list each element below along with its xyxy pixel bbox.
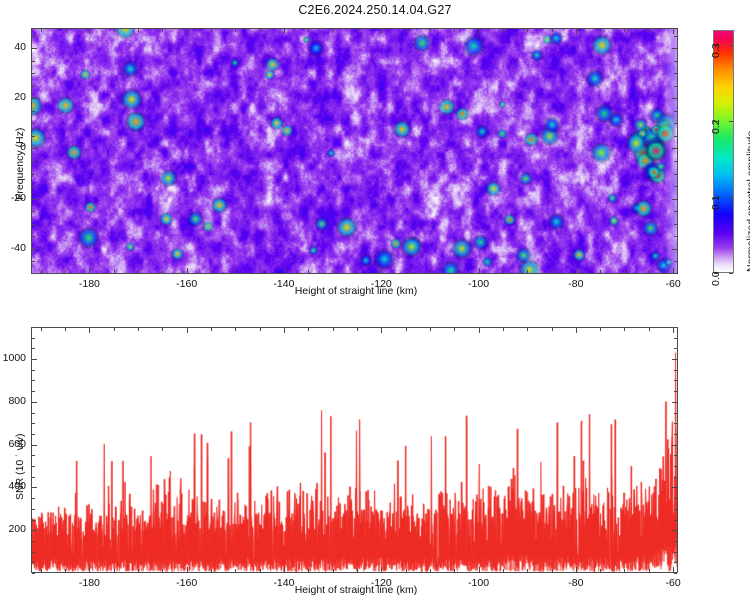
y-tick-label: 1000 <box>0 352 26 364</box>
colorbar-gradient <box>713 30 734 273</box>
colorbar-tick-label: 0.2 <box>710 120 722 135</box>
snr-trace-image <box>32 328 677 572</box>
colorbar-tick-label: 0.3 <box>710 44 722 59</box>
spectrogram-y-axis-label: Frequency (Hz) <box>14 128 26 200</box>
x-tick-label: -60 <box>643 577 703 589</box>
colorbar-label: Normalized spectral amplitude <box>745 131 750 272</box>
snr-y-axis-label: SNR (10 ˙ v/v) <box>14 433 26 500</box>
x-tick-label: -80 <box>546 278 606 290</box>
y-tick-label: -40 <box>0 242 26 254</box>
y-tick-label: 800 <box>0 395 26 407</box>
snr-plot <box>31 327 678 573</box>
x-tick-label: -180 <box>59 577 119 589</box>
x-tick-label: -60 <box>643 278 703 290</box>
y-tick-label: 40 <box>0 41 26 53</box>
spectrogram-image <box>32 29 677 273</box>
snr-x-axis-label: Height of straight line (km) <box>196 584 516 596</box>
spectrogram-x-axis-label: Height of straight line (km) <box>196 285 516 297</box>
y-tick-label: 200 <box>0 523 26 535</box>
spectrogram-plot <box>31 28 678 274</box>
x-tick-label: -80 <box>546 577 606 589</box>
figure-canvas: C2E6.2024.250.14.04.G27 -180-160-140-120… <box>0 0 750 600</box>
page-title: C2E6.2024.250.14.04.G27 <box>0 3 750 17</box>
x-tick-label: -180 <box>59 278 119 290</box>
colorbar-tick-label: 0.1 <box>710 195 722 210</box>
y-tick-label: 20 <box>0 91 26 103</box>
colorbar-tick-label: 0.0 <box>710 271 722 286</box>
